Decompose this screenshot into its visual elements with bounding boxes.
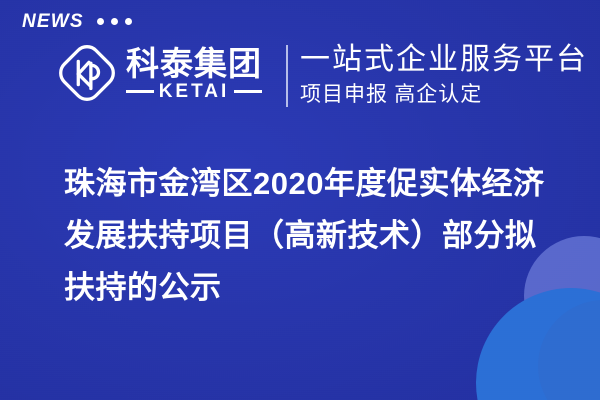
tagline-secondary: 项目申报 高企认定 <box>300 82 588 107</box>
news-banner: NEWS 科泰集团 KETAI <box>0 0 600 400</box>
dot-icon <box>111 18 118 25</box>
wordmark-rule-right <box>234 90 262 93</box>
tagline-block: 一站式企业服务平台 项目申报 高企认定 <box>300 43 588 107</box>
brand-name-en-row: KETAI <box>126 82 262 101</box>
tagline-primary: 一站式企业服务平台 <box>300 43 588 78</box>
page-title-line: 扶持的公示 <box>64 262 574 314</box>
brand-name-en: KETAI <box>159 82 230 101</box>
ketai-diamond-kd-icon <box>56 42 118 104</box>
page-title: 珠海市金湾区2020年度促实体经济 发展扶持项目（高新技术）部分拟 扶持的公示 <box>64 158 574 314</box>
dot-icon <box>125 18 132 25</box>
news-eyebrow: NEWS <box>22 12 132 31</box>
page-title-line: 珠海市金湾区2020年度促实体经济 <box>64 158 574 210</box>
vertical-divider <box>286 45 288 107</box>
brand-name-cn: 科泰集团 <box>126 47 262 81</box>
page-title-line: 发展扶持项目（高新技术）部分拟 <box>64 210 574 262</box>
three-dots-icon <box>97 18 132 25</box>
brand-wordmark: 科泰集团 KETAI <box>126 47 262 101</box>
wordmark-rule-left <box>126 90 154 93</box>
decorative-circle-bright-blue-secondary <box>538 300 600 400</box>
brand-lockup: 科泰集团 KETAI <box>56 42 262 104</box>
news-eyebrow-label: NEWS <box>22 12 84 31</box>
dot-icon <box>97 18 104 25</box>
